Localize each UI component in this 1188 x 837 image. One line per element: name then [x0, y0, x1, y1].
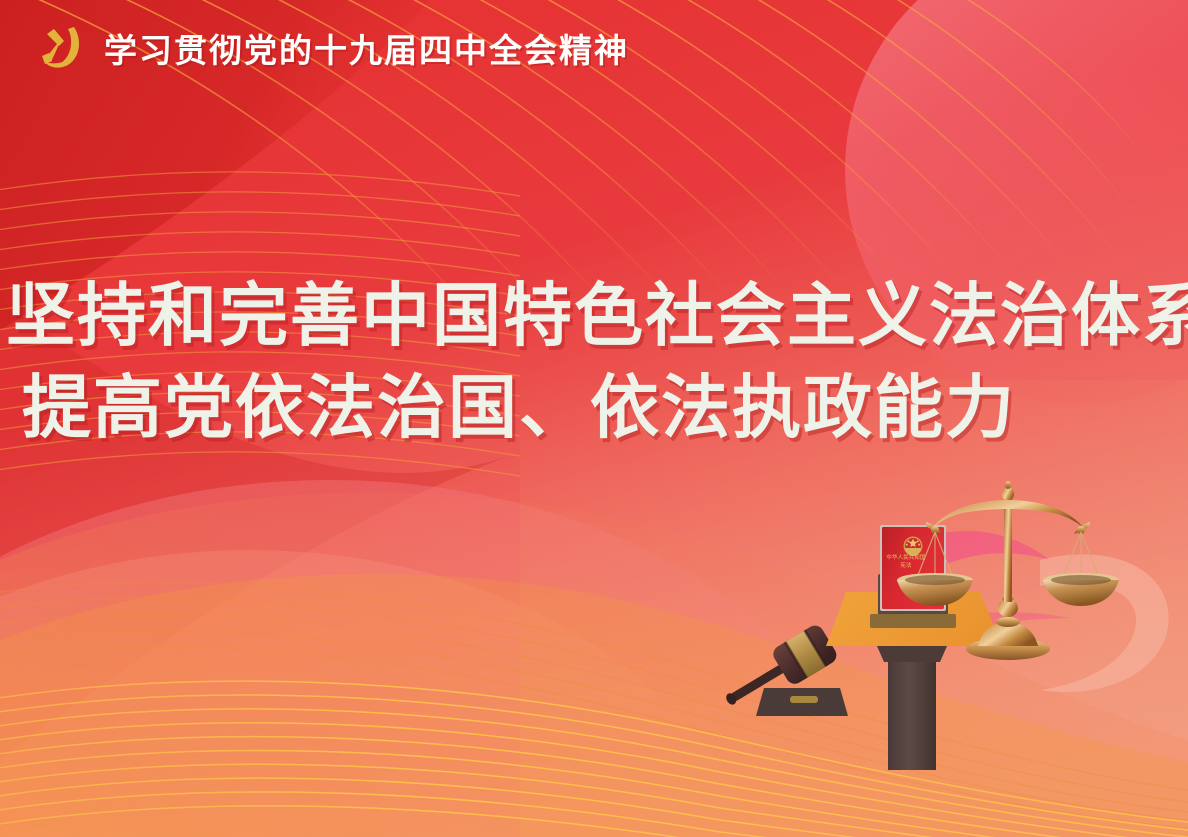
poster-canvas: 学习贯彻党的十九届四中全会精神 坚持和完善中国特色社会主义法治体系 提高党依法治…: [0, 0, 1188, 837]
header-title: 学习贯彻党的十九届四中全会精神: [104, 24, 629, 72]
header-banner: 学习贯彻党的十九届四中全会精神: [34, 24, 629, 72]
scale-pan-right: [1043, 573, 1119, 606]
page-title: 坚持和完善中国特色社会主义法治体系 提高党依法治国、依法执政能力: [0, 270, 1188, 454]
hammer-and-sickle-icon: [34, 24, 86, 72]
law-illustration: 中华人民共和国 宪法: [690, 470, 1188, 770]
sound-block-icon: [756, 688, 848, 716]
headline-line-1: 坚持和完善中国特色社会主义法治体系: [0, 270, 1188, 362]
headline-line-2: 提高党依法治国、依法执政能力: [0, 362, 1188, 454]
illustration-graphics: [690, 470, 1188, 770]
